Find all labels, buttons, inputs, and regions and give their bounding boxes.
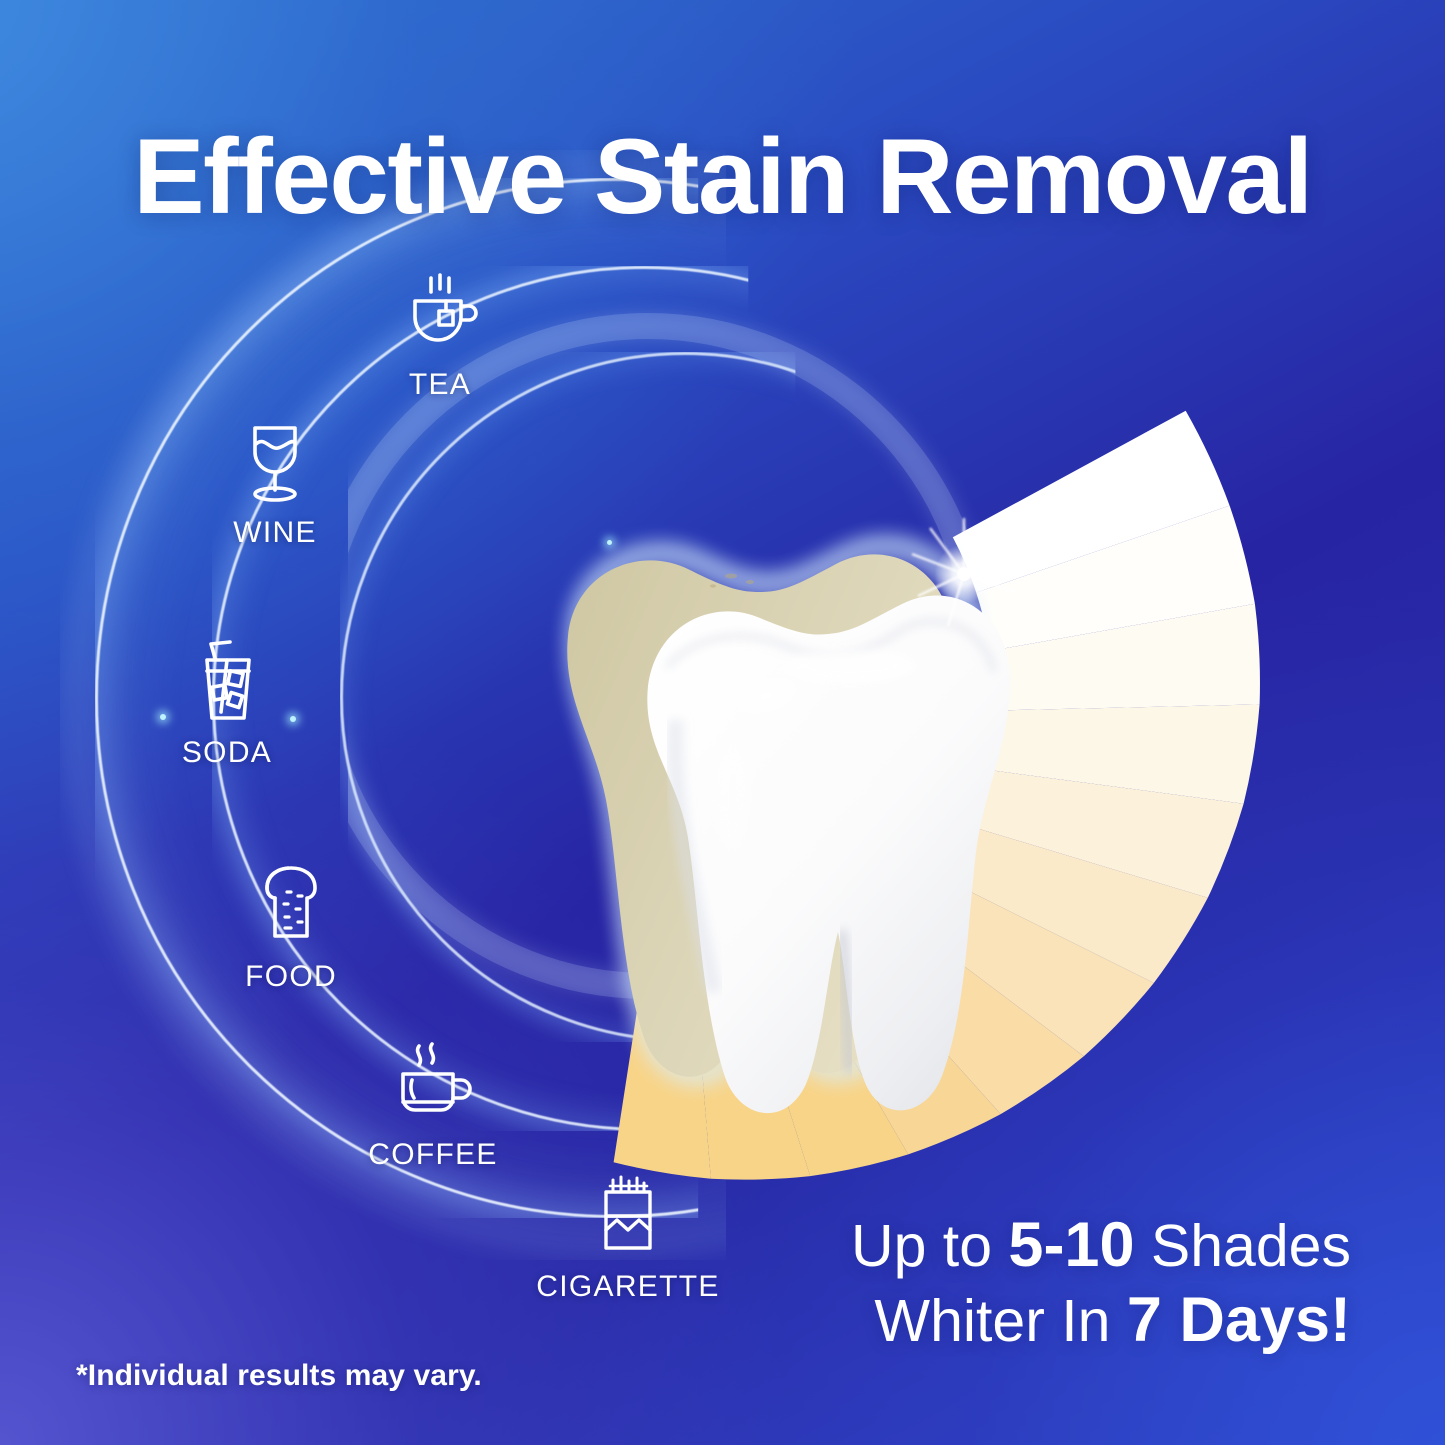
claim-text: Up to 5-10 Shades Whiter In 7 Days! [851,1208,1351,1357]
claim-line1-prefix: Up to [851,1213,1008,1279]
claim-shades-value: 5-10 [1008,1210,1134,1280]
stain-source-wine[interactable]: WINE [200,418,350,550]
stain-source-label: SODA [152,736,302,770]
claim-line2-prefix: Whiter In [874,1288,1126,1354]
stain-source-label: CIGARETTE [528,1270,728,1304]
disclaimer-text: *Individual results may vary. [76,1359,482,1393]
stain-source-tea[interactable]: TEA [365,270,515,402]
stain-source-coffee[interactable]: COFFEE [348,1040,518,1172]
soda-glass-icon [152,638,302,730]
bread-slice-icon [216,862,366,954]
stain-source-label: FOOD [216,960,366,994]
page-title: Effective Stain Removal [0,120,1445,232]
stain-source-soda[interactable]: SODA [152,638,302,770]
wine-glass-icon [200,418,350,510]
promo-graphic: Effective Stain Removal TEA WIN [0,0,1445,1445]
stain-source-label: TEA [365,368,515,402]
stain-source-label: WINE [200,516,350,550]
cigarette-pack-icon [528,1172,728,1264]
stain-source-label: COFFEE [348,1138,518,1172]
claim-line-2: Whiter In 7 Days! [851,1283,1351,1357]
coffee-cup-icon [348,1040,518,1132]
tea-cup-icon [365,270,515,362]
claim-days-value: 7 Days! [1127,1285,1351,1355]
tooth-illustration [498,500,1038,1120]
claim-line1-suffix: Shades [1135,1213,1352,1279]
stain-source-food[interactable]: FOOD [216,862,366,994]
claim-line-1: Up to 5-10 Shades [851,1208,1351,1282]
stain-source-cigarette[interactable]: CIGARETTE [528,1172,728,1304]
